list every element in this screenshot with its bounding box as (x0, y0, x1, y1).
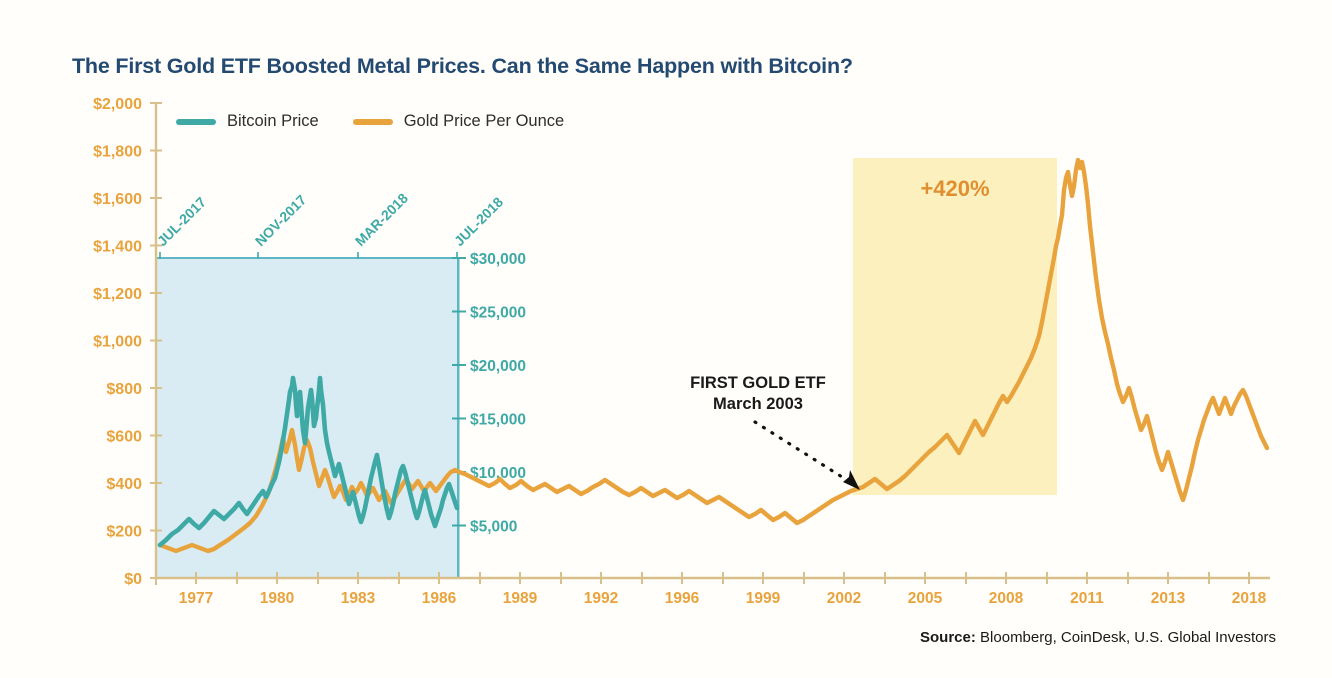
chart-plot-area: $2,000 $1,800 $1,600 $1,400 $1,200 $1,00… (0, 0, 1332, 678)
x-axis-label-1996: 1996 (665, 590, 700, 607)
legend-item-gold[interactable]: Gold Price Per Ounce (353, 112, 565, 131)
x-axis-label-2008: 2008 (989, 590, 1024, 607)
y-axis-right-label-30000: $30,000 (470, 251, 526, 268)
y-axis-left-label-2000: $2,000 (93, 96, 142, 113)
y-axis-left-label-1000: $1,000 (93, 334, 142, 351)
annotation-first-gold-etf-line1: FIRST GOLD ETF (690, 374, 826, 392)
y-axis-right-label-20000: $20,000 (470, 358, 526, 375)
growth-callout-label: +420% (920, 176, 989, 201)
annotation-arrow-line (755, 422, 850, 482)
x-axis-secondary-label-jul-2017: JUL-2017 (154, 194, 209, 249)
x-axis-label-2013: 2013 (1151, 590, 1186, 607)
x-axis-label-1986: 1986 (422, 590, 457, 607)
chart-legend: Bitcoin Price Gold Price Per Ounce (176, 112, 564, 131)
x-axis-label-2002: 2002 (827, 590, 861, 607)
x-axis-label-2011: 2011 (1070, 590, 1104, 607)
x-axis-label-1989: 1989 (503, 590, 538, 607)
y-axis-left-label-600: $600 (106, 429, 142, 446)
legend-label-gold: Gold Price Per Ounce (404, 112, 565, 131)
x-axis-label-1977: 1977 (179, 590, 213, 607)
x-axis-label-2018: 2018 (1232, 590, 1267, 607)
legend-swatch-bitcoin (176, 119, 216, 125)
x-axis-label-2005: 2005 (908, 590, 943, 607)
shaded-region-bitcoin-border-top (156, 257, 459, 259)
legend-label-bitcoin: Bitcoin Price (227, 112, 319, 131)
legend-item-bitcoin[interactable]: Bitcoin Price (176, 112, 319, 131)
y-axis-left-label-1400: $1,400 (93, 239, 142, 256)
x-axis-label-1980: 1980 (260, 590, 294, 607)
y-axis-left-label-400: $400 (106, 476, 142, 493)
annotation-first-gold-etf-line2: March 2003 (713, 395, 803, 413)
y-axis-right-label-25000: $25,000 (470, 305, 526, 322)
x-axis-label-1983: 1983 (341, 590, 376, 607)
x-axis-label-1999: 1999 (746, 590, 781, 607)
chart-root: The First Gold ETF Boosted Metal Prices.… (0, 0, 1332, 678)
x-axis-secondary-label-nov-2017: NOV-2017 (252, 191, 310, 249)
x-axis-secondary-label-jul-2018: JUL-2018 (451, 194, 506, 249)
y-axis-left-label-1800: $1,800 (93, 144, 142, 161)
legend-swatch-gold (353, 119, 393, 125)
y-axis-right-label-5000: $5,000 (470, 519, 517, 536)
y-axis-right-label-15000: $15,000 (470, 412, 526, 429)
source-text: Bloomberg, CoinDesk, U.S. Global Investo… (976, 629, 1276, 646)
source-note: Source: Bloomberg, CoinDesk, U.S. Global… (920, 629, 1276, 646)
y-axis-left-label-200: $200 (106, 524, 142, 541)
y-axis-left-label-1200: $1,200 (93, 286, 142, 303)
source-label: Source: (920, 629, 976, 646)
x-axis-label-1992: 1992 (584, 590, 618, 607)
y-axis-left-label-0: $0 (124, 571, 142, 588)
x-axis-secondary-label-mar-2018: MAR-2018 (352, 190, 411, 249)
y-axis-left-label-1600: $1,600 (93, 191, 142, 208)
y-axis-left-label-800: $800 (106, 381, 142, 398)
